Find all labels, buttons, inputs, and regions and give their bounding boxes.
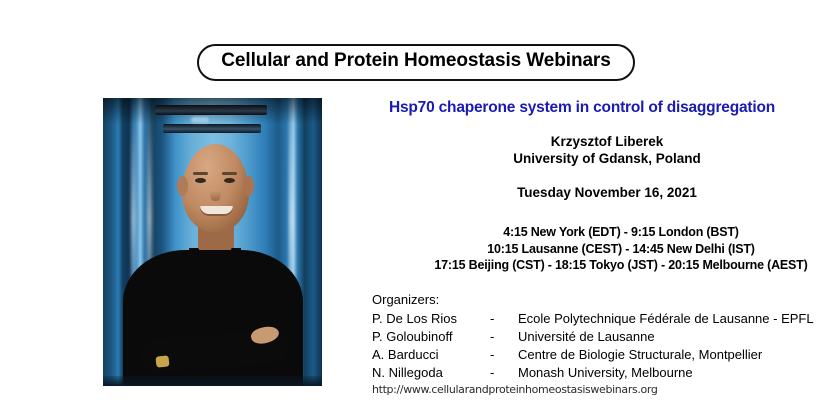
ceiling-light-icon — [155, 105, 267, 115]
organizer-row: P. De Los Rios - Ecole Polytechnique Féd… — [372, 310, 814, 328]
lecture-title: Hsp70 chaperone system in control of dis… — [332, 99, 832, 117]
portrait-ear-left — [177, 176, 188, 196]
webinar-website-url[interactable]: http://www.cellularandproteinhomeostasis… — [372, 383, 658, 396]
webinar-series-banner: Cellular and Protein Homeostasis Webinar… — [197, 44, 634, 81]
organizers-section: Organizers: P. De Los Rios - Ecole Polyt… — [372, 291, 814, 382]
timezone-line: 17:15 Beijing (CST) - 18:15 Tokyo (JST) … — [410, 257, 832, 274]
portrait-nose — [210, 184, 221, 201]
organizers-table: P. De Los Rios - Ecole Polytechnique Féd… — [372, 310, 814, 382]
banner-container: Cellular and Protein Homeostasis Webinar… — [0, 44, 832, 81]
organizer-dash: - — [490, 328, 518, 346]
speaker-name: Krzysztof Liberek — [382, 133, 832, 150]
ceiling-light-glow-icon — [191, 117, 209, 123]
timezone-line: 10:15 Lausanne (CEST) - 14:45 New Delhi … — [410, 241, 832, 258]
organizer-name: N. Nillegoda — [372, 364, 490, 382]
speaker-affiliation: University of Gdansk, Poland — [382, 150, 832, 167]
organizer-name: A. Barducci — [372, 346, 490, 364]
organizer-affiliation: Ecole Polytechnique Fédérale de Lausanne… — [518, 310, 814, 328]
timezone-list: 4:15 New York (EDT) - 9:15 London (BST) … — [410, 224, 832, 274]
portrait-wristwatch — [155, 355, 169, 367]
photo-floor — [103, 376, 322, 386]
organizer-affiliation: Centre de Biologie Structurale, Montpell… — [518, 346, 814, 364]
portrait-eyebrow-right — [222, 172, 237, 175]
organizer-affiliation: Monash University, Melbourne — [518, 364, 814, 382]
portrait-ear-right — [243, 176, 254, 196]
portrait-eye-left — [195, 178, 206, 183]
organizer-dash: - — [490, 364, 518, 382]
organizer-row: A. Barducci - Centre de Biologie Structu… — [372, 346, 814, 364]
webinar-date: Tuesday November 16, 2021 — [382, 185, 832, 200]
organizer-name: P. Goloubinoff — [372, 328, 490, 346]
organizer-row: P. Goloubinoff - Université de Lausanne — [372, 328, 814, 346]
organizer-affiliation: Université de Lausanne — [518, 328, 814, 346]
timezone-line: 4:15 New York (EDT) - 9:15 London (BST) — [410, 224, 832, 241]
organizer-dash: - — [490, 346, 518, 364]
organizer-row: N. Nillegoda - Monash University, Melbou… — [372, 364, 814, 382]
organizers-heading: Organizers: — [372, 291, 814, 309]
portrait-smile — [200, 206, 233, 216]
organizer-dash: - — [490, 310, 518, 328]
speaker-block: Krzysztof Liberek University of Gdansk, … — [382, 133, 832, 167]
speaker-portrait-photo — [103, 98, 322, 386]
portrait-eyebrow-left — [193, 172, 208, 175]
organizer-name: P. De Los Rios — [372, 310, 490, 328]
ceiling-light-icon — [163, 124, 261, 133]
portrait-eye-right — [224, 178, 235, 183]
